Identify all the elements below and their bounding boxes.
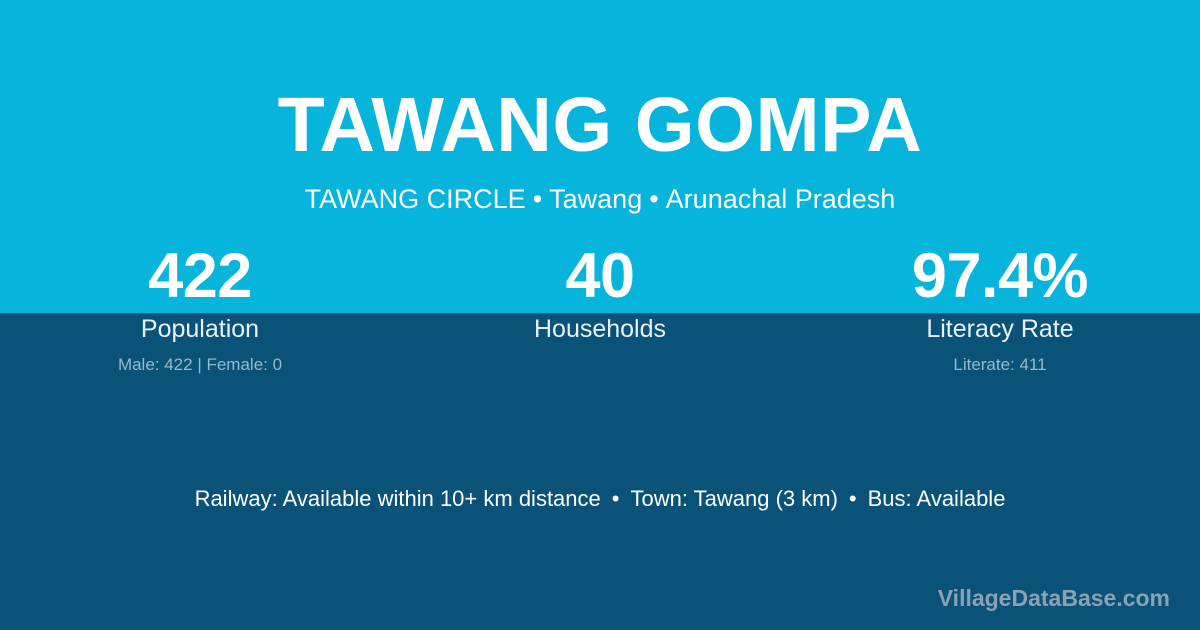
facility-separator-2: • [838, 486, 868, 511]
stat-households: 40 Households [400, 240, 800, 377]
breadcrumb-separator-2: • [642, 184, 665, 214]
breadcrumb-separator-1: • [526, 184, 549, 214]
location-breadcrumb: TAWANG CIRCLE•Tawang•Arunachal Pradesh [0, 182, 1200, 216]
stat-label: Households [400, 313, 800, 345]
breadcrumb-state: Arunachal Pradesh [666, 184, 896, 214]
stat-value: 40 [400, 240, 800, 312]
village-info-card: TAWANG GOMPA TAWANG CIRCLE•Tawang•Arunac… [0, 0, 1200, 630]
facilities-line: Railway: Available within 10+ km distanc… [0, 483, 1200, 515]
facility-railway: Railway: Available within 10+ km distanc… [195, 486, 601, 511]
stats-row: 422 Population Male: 422 | Female: 0 40 … [0, 240, 1200, 377]
stat-literacy-rate: 97.4% Literacy Rate Literate: 411 [800, 240, 1200, 377]
stat-population: 422 Population Male: 422 | Female: 0 [0, 240, 400, 377]
site-watermark: VillageDataBase.com [938, 583, 1170, 613]
breadcrumb-circle: TAWANG CIRCLE [305, 184, 526, 214]
stat-value: 97.4% [800, 240, 1200, 312]
stat-sub: Literate: 411 [800, 353, 1200, 377]
stat-value: 422 [0, 240, 400, 312]
stat-label: Population [0, 313, 400, 345]
page-title: TAWANG GOMPA [0, 82, 1200, 168]
stat-sub: Male: 422 | Female: 0 [0, 353, 400, 377]
stat-sub [400, 353, 800, 377]
facility-town: Town: Tawang (3 km) [630, 486, 837, 511]
breadcrumb-district: Tawang [549, 184, 642, 214]
facility-bus: Bus: Available [868, 486, 1006, 511]
stat-label: Literacy Rate [800, 313, 1200, 345]
facility-separator-1: • [601, 486, 631, 511]
